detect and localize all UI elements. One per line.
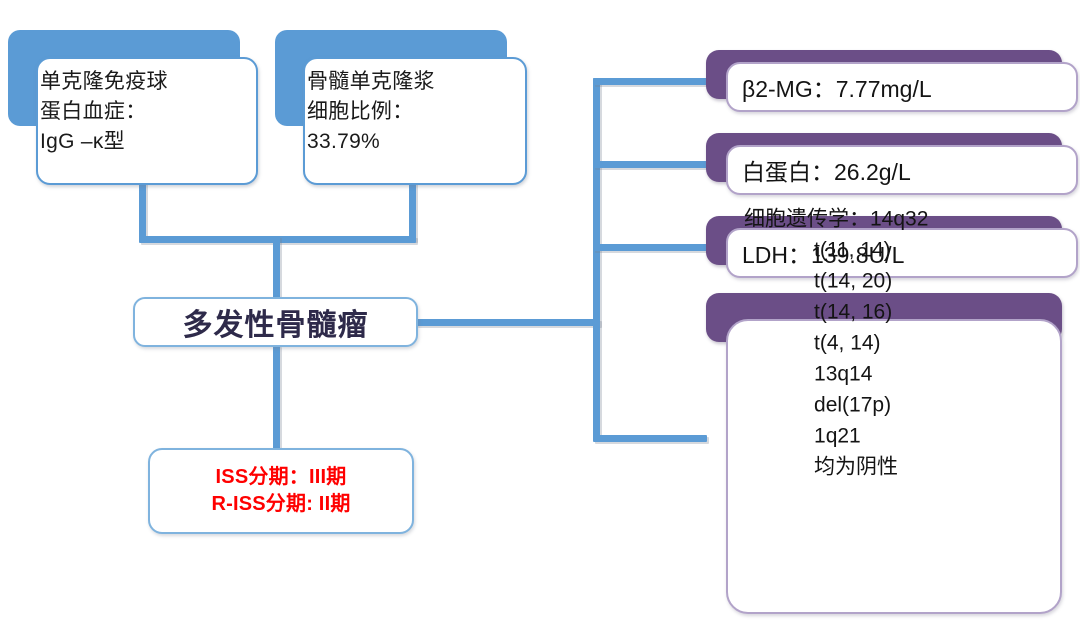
connector-center-to-staging — [273, 345, 280, 450]
lab-card-text: β2-MG：7.77mg/L — [742, 70, 932, 104]
staging-line-riss: R-ISS分期: II期 — [211, 491, 350, 518]
evidence-card-marrow-plasma-cell-ratio[interactable]: 骨髓单克隆浆 细胞比例： 33.79% — [275, 30, 527, 185]
lab-card-albumin[interactable]: 白蛋白：26.2g/L — [706, 133, 1080, 196]
cytogenetics-text: 细胞遗传学：14q32 t(11, 14) t(14, 20) t(14, 16… — [744, 204, 928, 483]
staging-node-iss[interactable]: ISS分期：III期 R-ISS分期: II期 — [148, 448, 414, 534]
connector-lab-trunk — [593, 78, 600, 440]
center-node-multiple-myeloma[interactable]: 多发性骨髓瘤 — [133, 297, 418, 347]
lab-card-cytogenetics[interactable]: 细胞遗传学：14q32 t(11, 14) t(14, 20) t(14, 16… — [706, 293, 1080, 618]
evidence-card-monoclonal-immunoglobulinemia[interactable]: 单克隆免疫球 蛋白血症： IgG –κ型 — [8, 30, 258, 185]
lab-card-beta2-microglobulin[interactable]: β2-MG：7.77mg/L — [706, 50, 1080, 113]
staging-line-iss: ISS分期：III期 — [216, 464, 347, 491]
connector-evidence2-down — [409, 179, 416, 241]
center-node-label: 多发性骨髓瘤 — [183, 300, 369, 344]
connector-bar-to-center — [273, 236, 280, 298]
connector-center-to-trunk — [416, 319, 600, 326]
evidence-card-text: 骨髓单克隆浆 细胞比例： 33.79% — [307, 67, 525, 157]
connector-branch-cytogenetics — [593, 435, 707, 442]
evidence-card-text: 单克隆免疫球 蛋白血症： IgG –κ型 — [40, 67, 256, 157]
lab-card-text: 白蛋白：26.2g/L — [742, 153, 911, 187]
connector-branch-beta2mg — [593, 78, 707, 85]
connector-branch-albumin — [593, 161, 707, 168]
diagram-canvas: 单克隆免疫球 蛋白血症： IgG –κ型 骨髓单克隆浆 细胞比例： 33.79%… — [0, 0, 1080, 627]
connector-evidence1-down — [139, 179, 146, 241]
connector-branch-ldh — [593, 244, 707, 251]
